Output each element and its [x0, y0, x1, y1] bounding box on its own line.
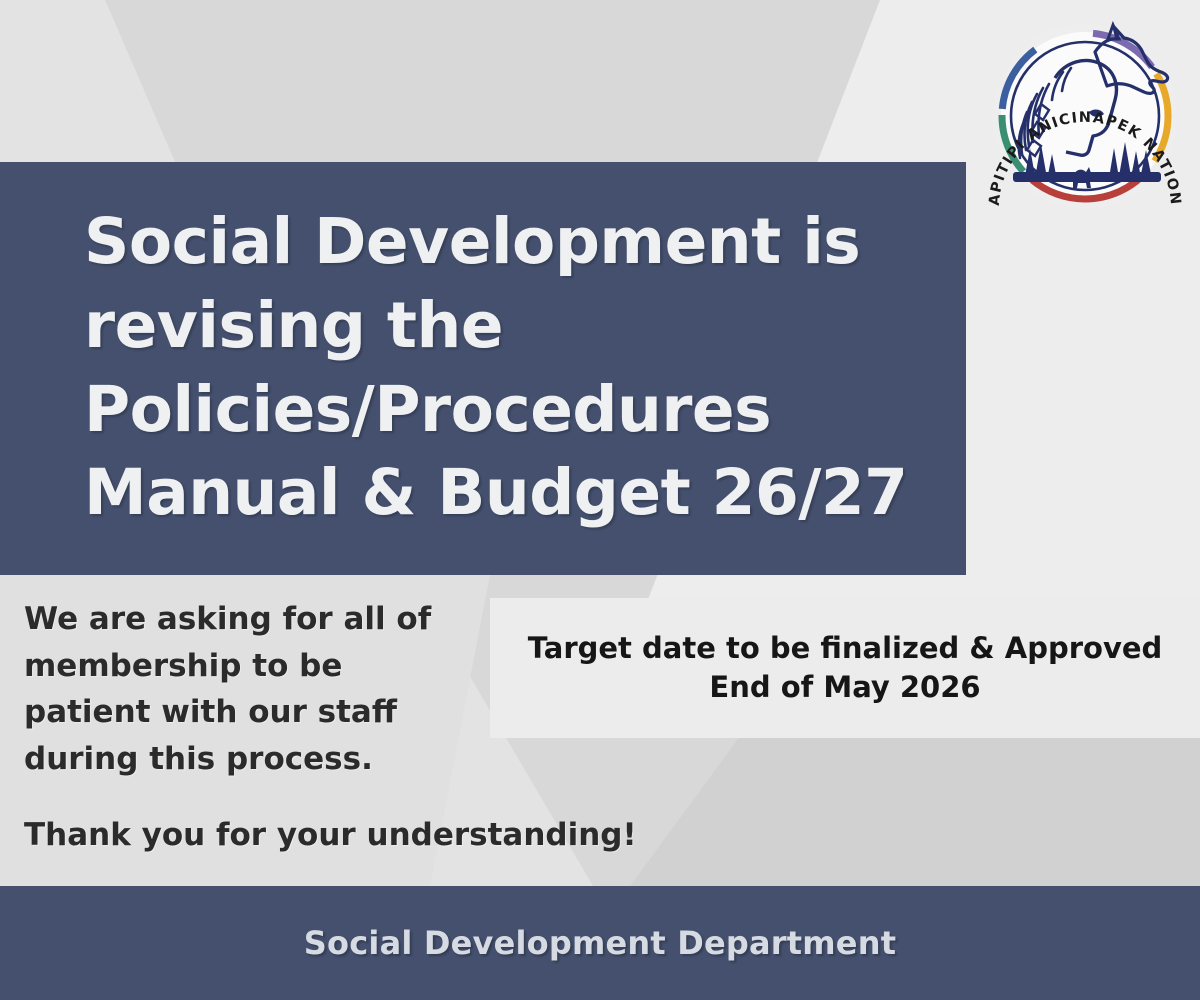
target-date-line-1: Target date to be finalized & Approved: [528, 629, 1163, 668]
poster-canvas: Social Development is revising the Polic…: [0, 0, 1200, 1000]
department-name: Social Development Department: [304, 924, 896, 962]
left-message-block: We are asking for all of membership to b…: [24, 596, 476, 859]
patience-paragraph: We are asking for all of membership to b…: [24, 596, 476, 782]
headline-banner: Social Development is revising the Polic…: [0, 162, 966, 575]
target-date-panel: Target date to be finalized & Approved E…: [490, 598, 1200, 738]
headline-title: Social Development is revising the Polic…: [84, 200, 926, 535]
thank-you-line: Thank you for your understanding!: [24, 812, 476, 859]
footer-bar: Social Development Department: [0, 886, 1200, 1000]
target-date-line-2: End of May 2026: [709, 668, 980, 707]
apitipi-anicinapek-nation-logo: APITIPI ANICINAPEK NATION: [977, 8, 1193, 224]
